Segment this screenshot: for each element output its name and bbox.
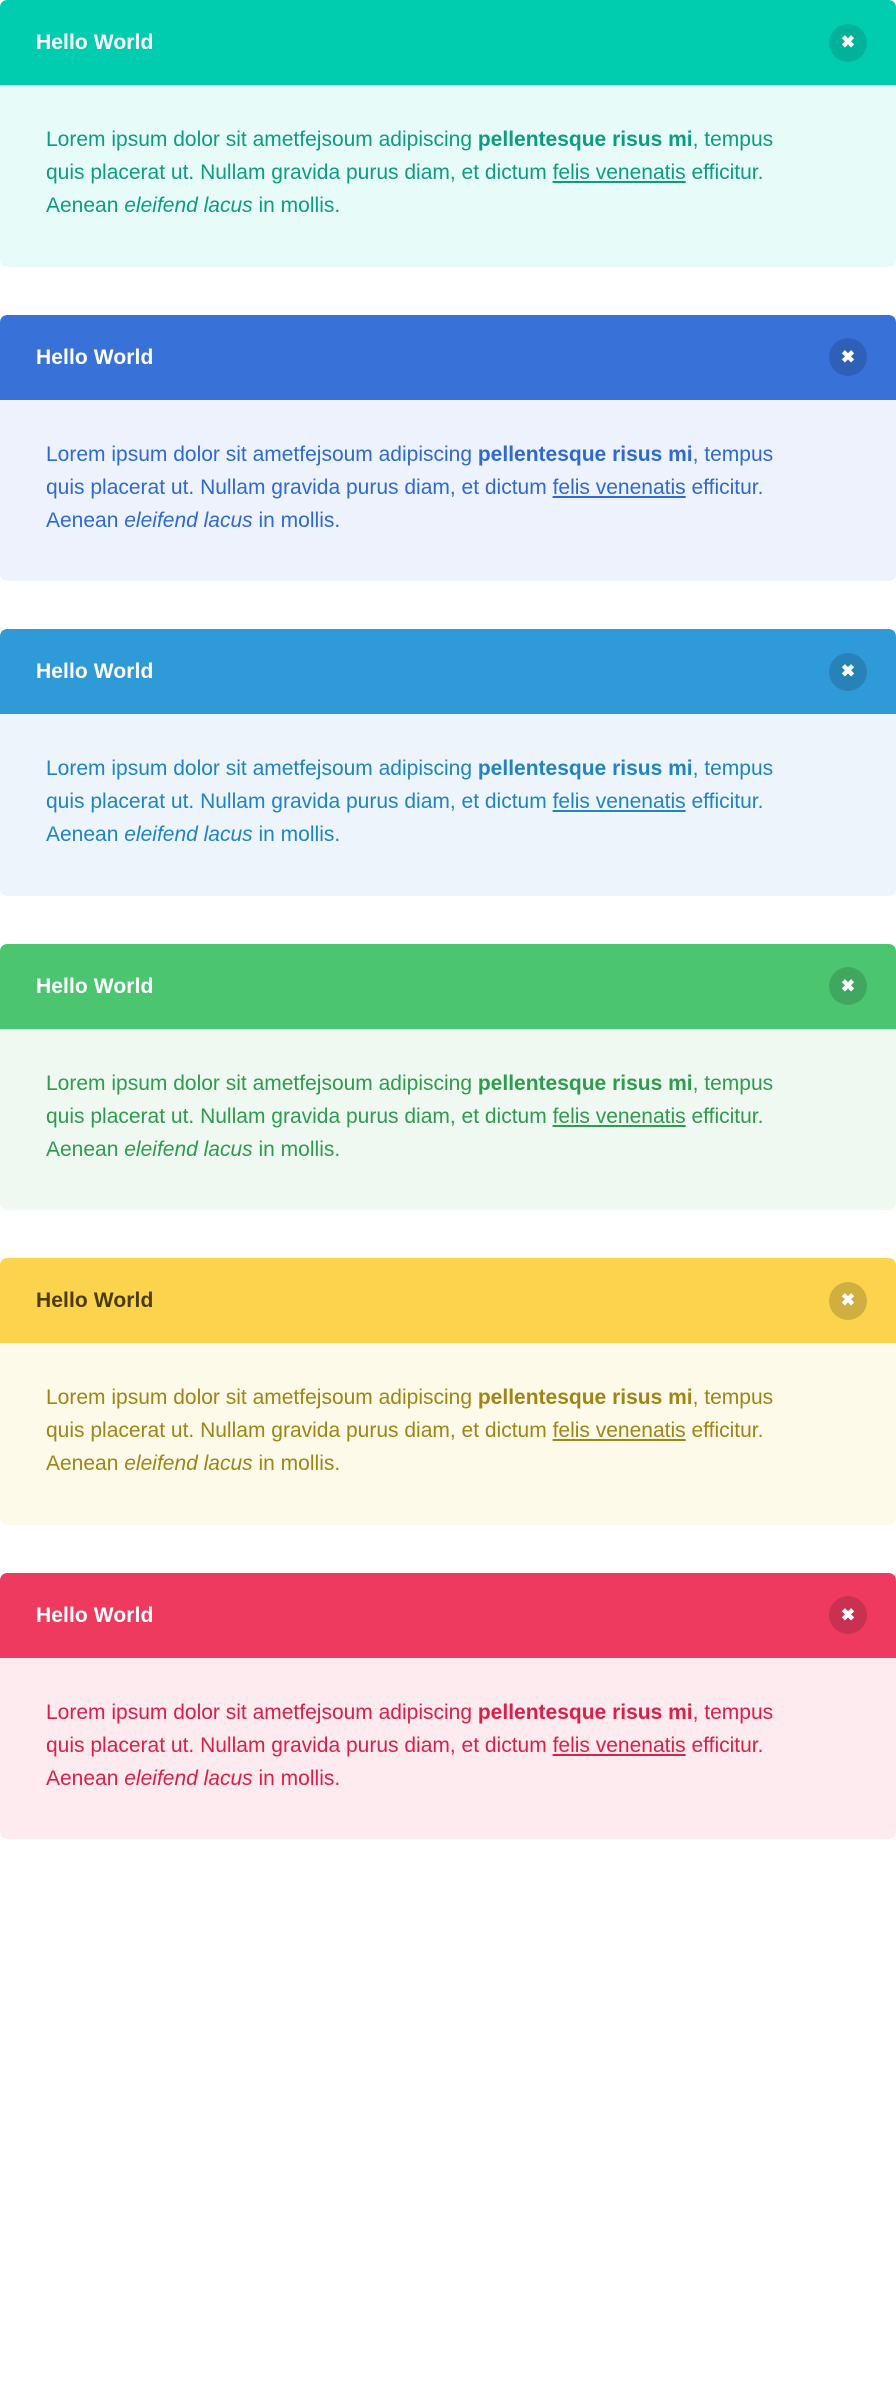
alert-stack: Hello World ✖ Lorem ipsum dolor sit amet… — [0, 0, 896, 1839]
message-text-1: Lorem ipsum dolor sit ametfejsoum adipis… — [46, 1386, 478, 1409]
message-link[interactable]: felis venenatis — [553, 161, 686, 184]
alert-body-info: Lorem ipsum dolor sit ametfejsoum adipis… — [0, 714, 896, 896]
alert-body-warning: Lorem ipsum dolor sit ametfejsoum adipis… — [0, 1343, 896, 1525]
message-bold: pellentesque risus mi — [478, 1072, 693, 1095]
message-bold: pellentesque risus mi — [478, 757, 693, 780]
close-button-primary[interactable]: ✖ — [829, 338, 867, 376]
message-text-4: in mollis. — [253, 1452, 341, 1475]
message-text-1: Lorem ipsum dolor sit ametfejsoum adipis… — [46, 757, 478, 780]
alert-card-teal: Hello World ✖ Lorem ipsum dolor sit amet… — [0, 0, 896, 267]
message-link[interactable]: felis venenatis — [553, 1734, 686, 1757]
message-link[interactable]: felis venenatis — [553, 476, 686, 499]
alert-message: Lorem ipsum dolor sit ametfejsoum adipis… — [46, 1381, 816, 1481]
message-italic: eleifend lacus — [124, 194, 252, 217]
alert-message: Lorem ipsum dolor sit ametfejsoum adipis… — [46, 438, 816, 538]
close-icon: ✖ — [841, 1292, 855, 1309]
message-italic: eleifend lacus — [124, 1138, 252, 1161]
alert-card-info: Hello World ✖ Lorem ipsum dolor sit amet… — [0, 629, 896, 896]
close-button-teal[interactable]: ✖ — [829, 24, 867, 62]
message-text-4: in mollis. — [253, 509, 341, 532]
message-italic: eleifend lacus — [124, 509, 252, 532]
alert-body-primary: Lorem ipsum dolor sit ametfejsoum adipis… — [0, 400, 896, 582]
close-button-info[interactable]: ✖ — [829, 653, 867, 691]
alert-title: Hello World — [36, 1290, 153, 1311]
alert-card-warning: Hello World ✖ Lorem ipsum dolor sit amet… — [0, 1258, 896, 1525]
close-icon: ✖ — [841, 348, 855, 365]
message-bold: pellentesque risus mi — [478, 443, 693, 466]
alert-header-teal: Hello World ✖ — [0, 0, 896, 85]
message-text-1: Lorem ipsum dolor sit ametfejsoum adipis… — [46, 443, 478, 466]
message-text-4: in mollis. — [253, 194, 341, 217]
alert-message: Lorem ipsum dolor sit ametfejsoum adipis… — [46, 123, 816, 223]
message-text-4: in mollis. — [253, 823, 341, 846]
alert-title: Hello World — [36, 1605, 153, 1626]
close-icon: ✖ — [841, 977, 855, 994]
alert-body-teal: Lorem ipsum dolor sit ametfejsoum adipis… — [0, 85, 896, 267]
close-icon: ✖ — [841, 34, 855, 51]
message-link[interactable]: felis venenatis — [553, 1105, 686, 1128]
alert-card-danger: Hello World ✖ Lorem ipsum dolor sit amet… — [0, 1573, 896, 1840]
alert-title: Hello World — [36, 976, 153, 997]
close-button-success[interactable]: ✖ — [829, 967, 867, 1005]
alert-title: Hello World — [36, 661, 153, 682]
message-italic: eleifend lacus — [124, 1452, 252, 1475]
alert-body-success: Lorem ipsum dolor sit ametfejsoum adipis… — [0, 1029, 896, 1211]
close-button-danger[interactable]: ✖ — [829, 1596, 867, 1634]
alert-title: Hello World — [36, 347, 153, 368]
message-bold: pellentesque risus mi — [478, 1701, 693, 1724]
message-bold: pellentesque risus mi — [478, 1386, 693, 1409]
message-text-1: Lorem ipsum dolor sit ametfejsoum adipis… — [46, 1072, 478, 1095]
message-text-1: Lorem ipsum dolor sit ametfejsoum adipis… — [46, 128, 478, 151]
message-bold: pellentesque risus mi — [478, 128, 693, 151]
close-button-warning[interactable]: ✖ — [829, 1282, 867, 1320]
alert-message: Lorem ipsum dolor sit ametfejsoum adipis… — [46, 752, 816, 852]
message-text-1: Lorem ipsum dolor sit ametfejsoum adipis… — [46, 1701, 478, 1724]
alert-message: Lorem ipsum dolor sit ametfejsoum adipis… — [46, 1067, 816, 1167]
message-link[interactable]: felis venenatis — [553, 790, 686, 813]
message-italic: eleifend lacus — [124, 1767, 252, 1790]
alert-title: Hello World — [36, 32, 153, 53]
alert-message: Lorem ipsum dolor sit ametfejsoum adipis… — [46, 1696, 816, 1796]
alert-header-danger: Hello World ✖ — [0, 1573, 896, 1658]
close-icon: ✖ — [841, 663, 855, 680]
close-icon: ✖ — [841, 1606, 855, 1623]
message-italic: eleifend lacus — [124, 823, 252, 846]
alert-header-success: Hello World ✖ — [0, 944, 896, 1029]
alert-header-info: Hello World ✖ — [0, 629, 896, 714]
alert-header-primary: Hello World ✖ — [0, 315, 896, 400]
alert-body-danger: Lorem ipsum dolor sit ametfejsoum adipis… — [0, 1658, 896, 1840]
alert-header-warning: Hello World ✖ — [0, 1258, 896, 1343]
message-text-4: in mollis. — [253, 1138, 341, 1161]
message-text-4: in mollis. — [253, 1767, 341, 1790]
alert-card-primary: Hello World ✖ Lorem ipsum dolor sit amet… — [0, 315, 896, 582]
alert-card-success: Hello World ✖ Lorem ipsum dolor sit amet… — [0, 944, 896, 1211]
message-link[interactable]: felis venenatis — [553, 1419, 686, 1442]
